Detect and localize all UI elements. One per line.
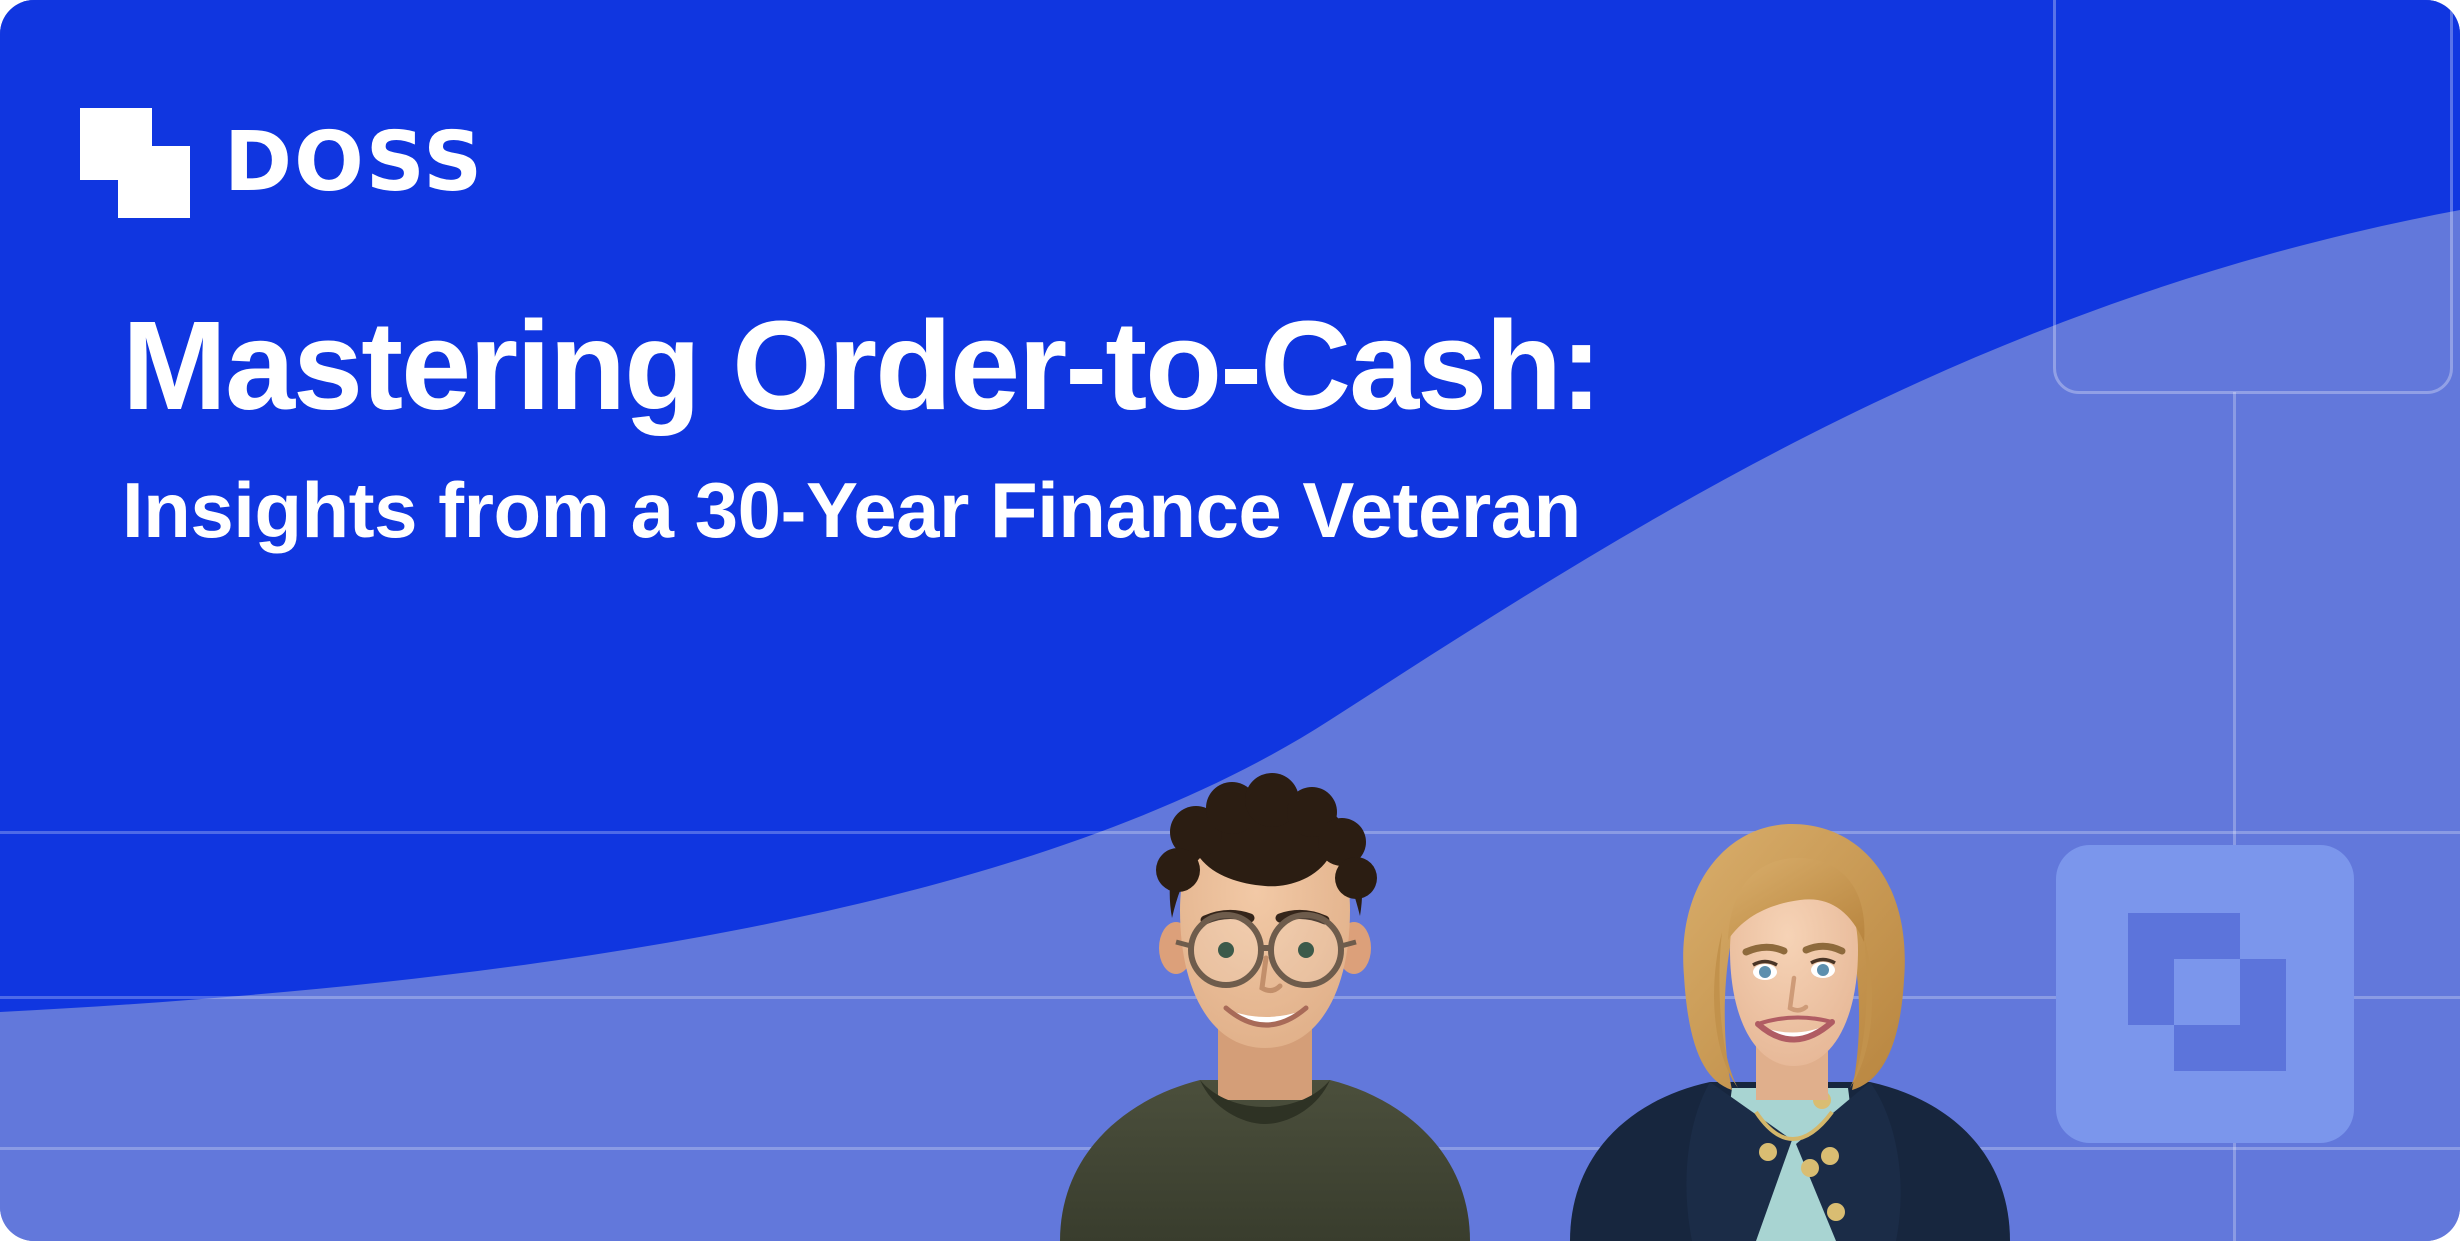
page-subtitle: Insights from a 30-Year Finance Veteran — [122, 468, 2022, 554]
decor-logo-mark-icon — [2128, 913, 2286, 1071]
brand-name: DOSS — [224, 122, 484, 204]
brand-logo[interactable]: DOSS — [80, 108, 484, 218]
portrait-host — [1000, 760, 1530, 1241]
decor-vertical-connector-lower — [2233, 1130, 2236, 1241]
decor-rounded-outline — [2053, 0, 2453, 394]
decor-vertical-connector — [2233, 392, 2236, 854]
page-title: Mastering Order-to-Cash: — [122, 300, 2022, 432]
headline-block: Mastering Order-to-Cash: Insights from a… — [122, 300, 2022, 554]
doss-logo-icon — [80, 108, 190, 218]
portrait-guest — [1560, 800, 2020, 1241]
decor-logo-card — [2056, 845, 2354, 1143]
webinar-promo-banner: DOSS Mastering Order-to-Cash: Insights f… — [0, 0, 2460, 1241]
